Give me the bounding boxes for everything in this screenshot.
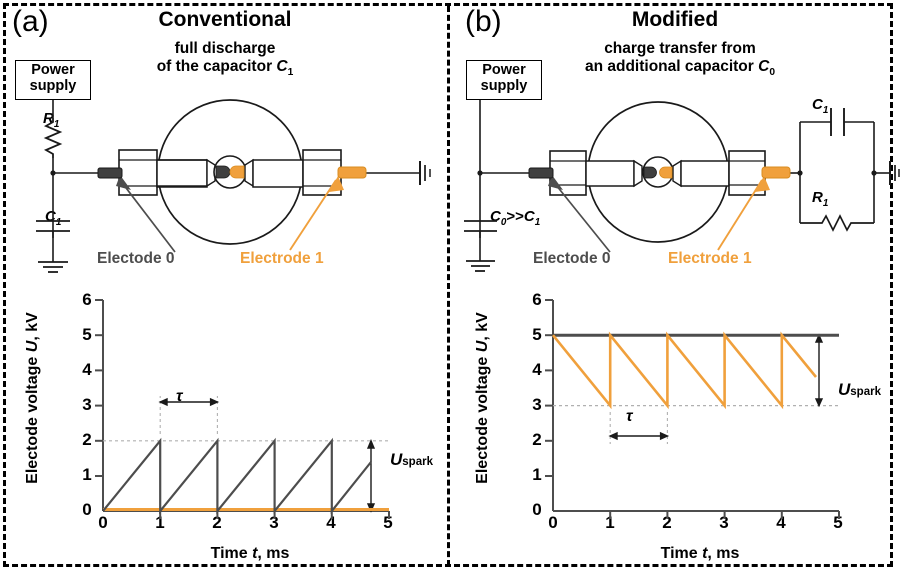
insulator-left-b	[634, 161, 642, 186]
electrode0-label-a: Electode 0	[97, 250, 175, 268]
electrode1-rod-outer-b	[762, 167, 790, 178]
electrode0-tip-b	[644, 167, 656, 178]
resistor-r1-b	[800, 216, 874, 230]
figure-root: (a) Conventional full discharge of the c…	[0, 0, 900, 574]
electrode1-label-b: Electrode 1	[668, 250, 752, 268]
resistor-r1-a	[46, 118, 60, 158]
junction-dot-b	[477, 170, 482, 175]
chart-a-tau-arrow	[160, 399, 217, 405]
chart-b-tau-arrow	[610, 433, 667, 439]
junction-dot-a	[50, 170, 55, 175]
chart-b-plot	[450, 284, 900, 574]
electrode1-rod-outer-a	[338, 167, 366, 178]
chart-a-plot	[0, 284, 450, 574]
chart-a-series-electrode0	[103, 441, 371, 511]
electrode0-rod-outer-a	[98, 168, 122, 178]
schematic-a	[0, 0, 450, 290]
electrode0-tip-a	[216, 166, 230, 178]
panel-b: (b) Modified charge transfer from an add…	[450, 0, 900, 574]
insulator-right-b	[673, 161, 681, 186]
insulator-right-a	[245, 160, 253, 186]
electrode1-tip-b	[660, 167, 672, 178]
tube-left-a	[157, 160, 207, 187]
electrode0-label-b: Electode 0	[533, 250, 611, 268]
flange-left-b	[550, 151, 586, 195]
electrode1-tip-a	[230, 166, 244, 178]
chart-a-uspark-arrow	[368, 441, 374, 511]
tube-right-a	[253, 160, 303, 187]
panel-a: (a) Conventional full discharge of the c…	[0, 0, 450, 574]
electrode0-rod-outer-b	[529, 168, 553, 178]
tube-left-b	[586, 161, 634, 186]
chart-b-series-electrode1	[553, 335, 816, 405]
schematic-b	[450, 0, 900, 290]
electrode1-label-a: Electrode 1	[240, 250, 324, 268]
tube-right-b	[681, 161, 729, 186]
chart-b-uspark-arrow	[816, 335, 822, 405]
